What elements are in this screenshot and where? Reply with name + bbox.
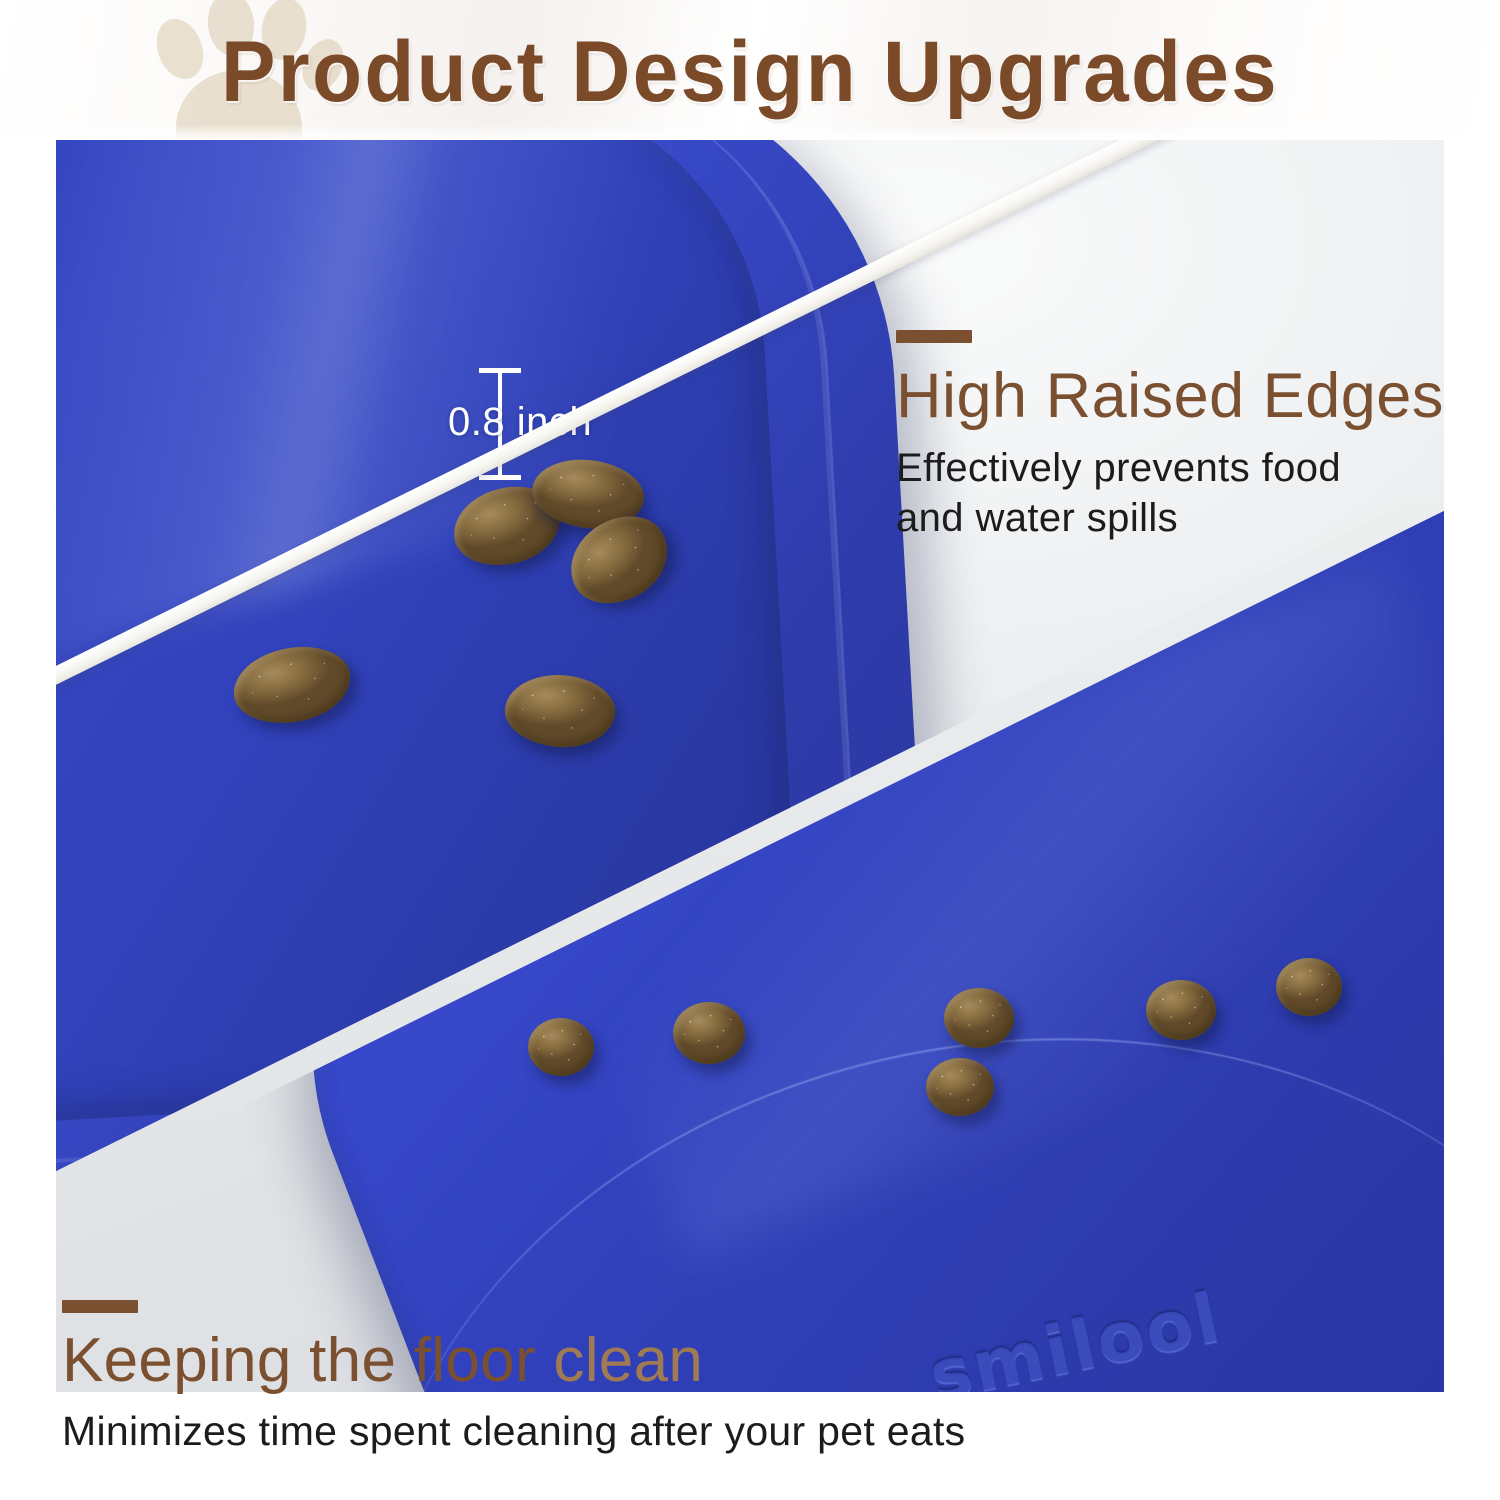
callout-body: Effectively prevents food and water spil… <box>896 443 1444 543</box>
product-photo-composite: 0.8 inch smilool High Raised Edges Effec… <box>28 140 1472 1420</box>
kibble-piece <box>926 1058 994 1116</box>
callout-title-strong: Keeping the floor <box>62 1326 536 1395</box>
callout-title: Keeping the floor clean <box>62 1327 965 1395</box>
callout-body: Minimizes time spent cleaning after your… <box>62 1405 965 1457</box>
kibble-piece <box>944 988 1014 1048</box>
callout-title: High Raised Edges <box>896 361 1444 431</box>
kibble-piece <box>673 1002 745 1064</box>
kibble-piece <box>528 1018 594 1076</box>
product-feature-poster: Product Design Upgrades 0.8 inch <box>0 0 1500 1500</box>
callout-body-line: Effectively prevents food <box>896 443 1444 493</box>
callout-title-muted: clean <box>536 1326 703 1395</box>
callout-high-raised-edges: High Raised Edges Effectively prevents f… <box>896 330 1444 543</box>
callout-body-line: and water spills <box>896 493 1444 543</box>
page-title: Product Design Upgrades <box>38 26 1463 118</box>
header-band: Product Design Upgrades <box>0 0 1500 140</box>
callout-keeping-floor-clean: Keeping the floor clean Minimizes time s… <box>62 1300 965 1457</box>
kibble-piece <box>1146 980 1216 1040</box>
kibble-piece <box>1276 958 1342 1016</box>
accent-bar <box>896 330 972 343</box>
accent-bar <box>62 1300 138 1313</box>
